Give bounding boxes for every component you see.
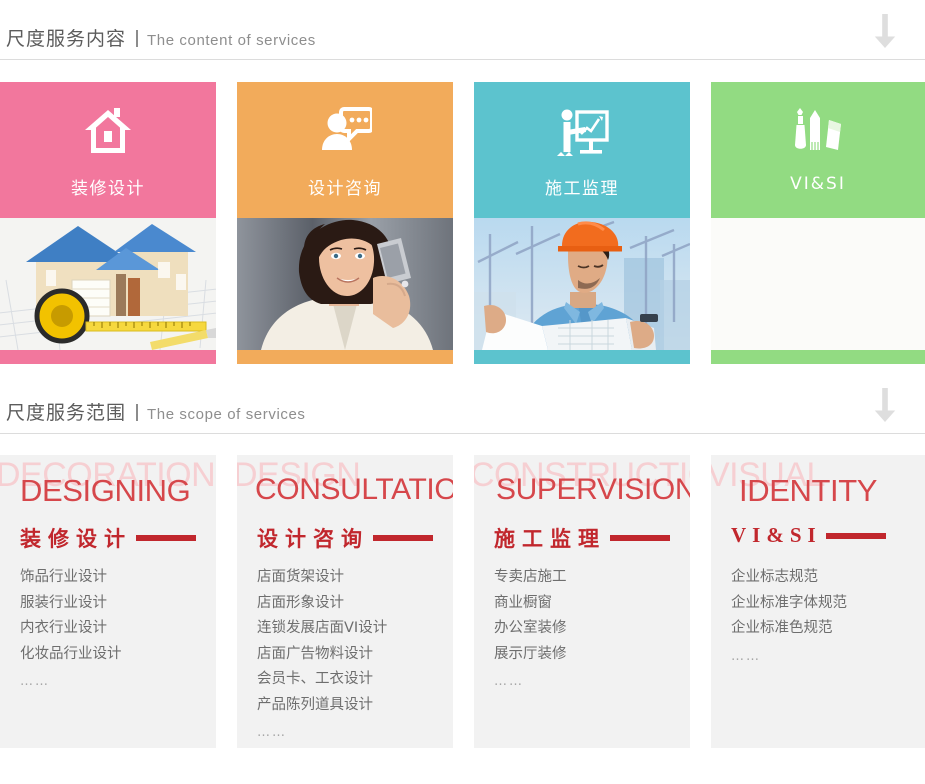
list-item-ellipsis: …… xyxy=(257,718,445,746)
list-item: 商业橱窗 xyxy=(494,591,682,617)
list-item: 产品陈列道具设计 xyxy=(257,693,445,719)
list-item: 专卖店施工 xyxy=(494,565,682,591)
engineer-hardhat-blueprint-photo xyxy=(474,218,690,350)
card-color-footer xyxy=(711,350,925,364)
card-color-header: 设计咨询 xyxy=(237,82,453,218)
list-item-ellipsis: …… xyxy=(494,667,682,695)
list-item: 店面广告物料设计 xyxy=(257,642,445,668)
service-card-visual-identity[interactable]: VI&SI xyxy=(711,82,925,364)
panel-headline: CONSULTATION xyxy=(255,473,453,507)
card-color-header: 装修设计 xyxy=(0,82,216,218)
section-title-group: 尺度服务范围 The scope of services xyxy=(6,398,306,425)
panel-item-list: 店面货架设计 店面形象设计 连锁发展店面VI设计 店面广告物料设计 会员卡、工衣… xyxy=(257,565,445,746)
section-title-en: The scope of services xyxy=(147,406,306,423)
section-heading-content: 尺度服务内容 The content of services xyxy=(0,0,925,60)
card-color-footer xyxy=(474,350,690,364)
list-item: 会员卡、工衣设计 xyxy=(257,667,445,693)
list-item: 饰品行业设计 xyxy=(20,565,208,591)
panel-headline: SUPERVISION xyxy=(496,473,690,507)
list-item: 企业标准色规范 xyxy=(731,616,917,642)
panel-item-list: 专卖店施工 商业橱窗 办公室装修 展示厅装修 …… xyxy=(494,565,682,695)
services-page: 尺度服务内容 The content of services 装修设 xyxy=(0,0,925,784)
card-label: 设计咨询 xyxy=(237,174,453,199)
service-cards-row: 装修设计 xyxy=(0,82,925,364)
businesswoman-on-phone-photo xyxy=(237,218,453,350)
person-chat-icon xyxy=(318,106,372,158)
section-title-group: 尺度服务内容 The content of services xyxy=(6,24,316,51)
list-item-ellipsis: …… xyxy=(20,667,208,695)
list-item: 店面形象设计 xyxy=(257,591,445,617)
panel-subhead-cn: 设计咨询 xyxy=(257,523,369,553)
red-dash-rule xyxy=(610,535,670,541)
panel-item-list: 企业标志规范 企业标准字体规范 企业标准色规范 …… xyxy=(731,565,917,669)
card-color-footer xyxy=(0,350,216,364)
red-dash-rule xyxy=(373,535,433,541)
list-item: 店面货架设计 xyxy=(257,565,445,591)
card-label: 装修设计 xyxy=(0,174,216,199)
list-item: 化妆品行业设计 xyxy=(20,642,208,668)
panel-subhead-cn: 施工监理 xyxy=(494,523,606,553)
service-card-decoration[interactable]: 装修设计 xyxy=(0,82,216,364)
panel-headline: IDENTITY xyxy=(739,473,877,509)
pen-pencil-eraser-icon xyxy=(791,106,845,158)
section-title-separator xyxy=(136,404,138,421)
section-title-separator xyxy=(136,30,138,47)
red-dash-rule xyxy=(136,535,196,541)
panel-subhead: 施工监理 xyxy=(494,523,670,553)
service-card-consultation[interactable]: 设计咨询 xyxy=(237,82,453,364)
section-title-cn: 尺度服务范围 xyxy=(6,398,126,425)
card-color-header: VI&SI xyxy=(711,82,925,218)
house-model-blueprint-tape-measure-photo xyxy=(0,218,216,350)
section-title-cn: 尺度服务内容 xyxy=(6,24,126,51)
scope-panel-consultation[interactable]: DESIGN CONSULTATION 设计咨询 店面货架设计 店面形象设计 连… xyxy=(237,455,453,748)
panel-item-list: 饰品行业设计 服装行业设计 内衣行业设计 化妆品行业设计 …… xyxy=(20,565,208,695)
panel-subhead: 装修设计 xyxy=(20,523,196,553)
panel-subhead-cn: 装修设计 xyxy=(20,523,132,553)
red-dash-rule xyxy=(826,533,886,539)
card-color-footer xyxy=(237,350,453,364)
panel-subhead-cn: VI&SI xyxy=(731,523,822,548)
colored-pencils-circle-photo xyxy=(711,218,925,350)
down-arrow-icon xyxy=(867,12,903,50)
card-label: 施工监理 xyxy=(474,174,690,199)
scope-panel-designing[interactable]: DECORATION DESIGNING 装修设计 饰品行业设计 服装行业设计 … xyxy=(0,455,216,748)
down-arrow-icon xyxy=(867,386,903,424)
list-item: 连锁发展店面VI设计 xyxy=(257,616,445,642)
section-heading-scope: 尺度服务范围 The scope of services xyxy=(0,374,925,434)
presenter-chart-icon xyxy=(555,106,609,158)
list-item: 办公室装修 xyxy=(494,616,682,642)
card-label: VI&SI xyxy=(711,174,925,194)
house-icon xyxy=(81,106,135,158)
panel-subhead: VI&SI xyxy=(731,523,886,548)
scope-panel-visual-identity[interactable]: VISUAL IDENTITY VI&SI 企业标志规范 企业标准字体规范 企业… xyxy=(711,455,925,748)
list-item: 企业标准字体规范 xyxy=(731,591,917,617)
service-card-supervision[interactable]: 施工监理 xyxy=(474,82,690,364)
panel-headline: DESIGNING xyxy=(20,473,190,509)
scope-panel-supervision[interactable]: CONSTRUCTION SUPERVISION 施工监理 专卖店施工 商业橱窗… xyxy=(474,455,690,748)
list-item: 服装行业设计 xyxy=(20,591,208,617)
section-title-en: The content of services xyxy=(147,32,316,49)
list-item: 内衣行业设计 xyxy=(20,616,208,642)
list-item: 展示厅装修 xyxy=(494,642,682,668)
panel-subhead: 设计咨询 xyxy=(257,523,433,553)
card-color-header: 施工监理 xyxy=(474,82,690,218)
list-item: 企业标志规范 xyxy=(731,565,917,591)
list-item-ellipsis: …… xyxy=(731,642,917,670)
